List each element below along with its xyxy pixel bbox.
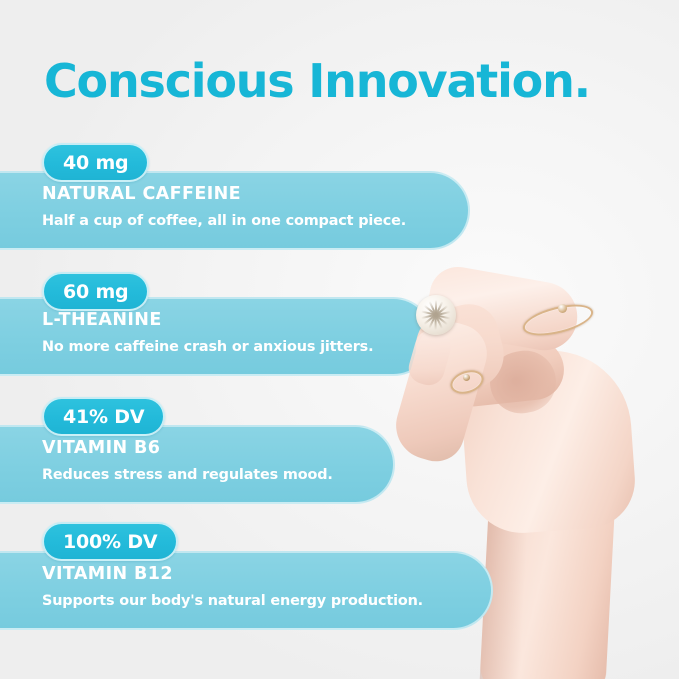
benefit-title: VITAMIN B6 [42, 438, 160, 458]
dose-badge: 41% DV [42, 397, 165, 436]
benefit-title: L-THEANINE [42, 310, 162, 330]
dose-badge: 100% DV [42, 522, 178, 561]
benefit-title: NATURAL CAFFEINE [42, 184, 241, 204]
gold-ring-stone-thumb [463, 374, 470, 381]
benefit-description: Reduces stress and regulates mood. [42, 467, 333, 483]
tablet-icon [416, 295, 456, 335]
page-title: Conscious Innovation. [44, 54, 590, 108]
benefit-description: Half a cup of coffee, all in one compact… [42, 213, 406, 229]
benefit-description: No more caffeine crash or anxious jitter… [42, 339, 373, 355]
gold-ring-stone-index [558, 304, 567, 313]
benefit-title: VITAMIN B12 [42, 564, 173, 584]
dose-badge: 60 mg [42, 272, 149, 311]
promo-canvas: Conscious Innovation. NATURAL CAFFEINEHa… [0, 0, 679, 679]
benefit-card: VITAMIN B12Supports our body's natural e… [0, 551, 493, 630]
dose-badge: 40 mg [42, 143, 149, 182]
benefit-card: NATURAL CAFFEINEHalf a cup of coffee, al… [0, 171, 470, 250]
benefit-description: Supports our body's natural energy produ… [42, 593, 423, 609]
benefit-card: VITAMIN B6Reduces stress and regulates m… [0, 425, 395, 504]
